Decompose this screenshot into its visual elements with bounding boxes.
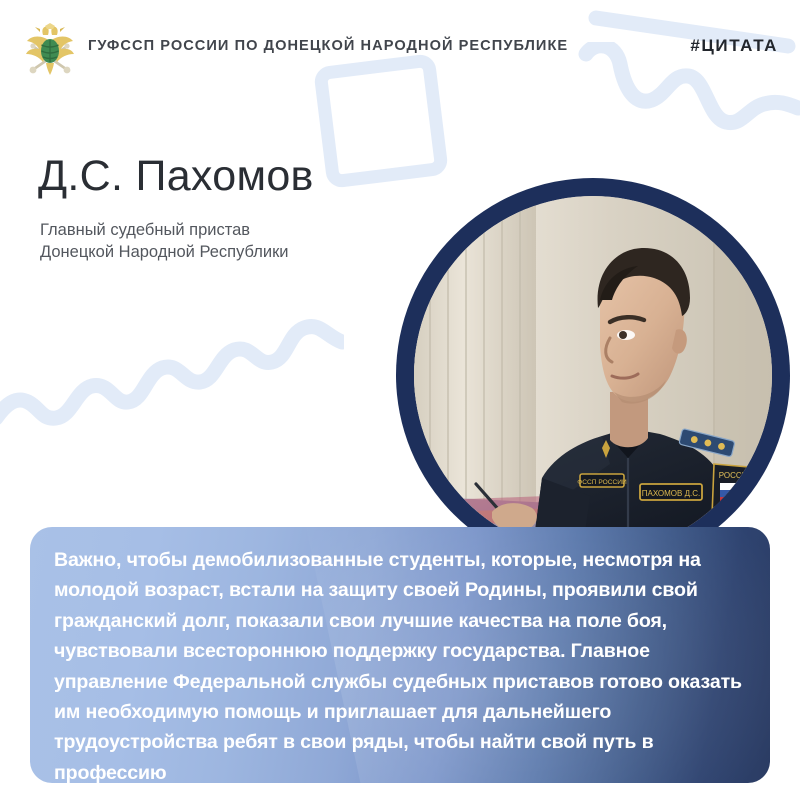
quote-panel: Важно, чтобы демобилизованные студенты, … [30, 527, 770, 783]
person-title: Главный судебный пристав Донецкой Народн… [40, 219, 289, 263]
wave-squiggle-left-icon [0, 300, 344, 430]
portrait-photo-frame: ФССП РОССИИ ПАХОМОВ Д.С. РОССИЯ [414, 196, 772, 554]
svg-text:ФССП РОССИИ: ФССП РОССИИ [577, 479, 627, 486]
person-title-line-2: Донецкой Народной Республики [40, 241, 289, 263]
portrait-photo: ФССП РОССИИ ПАХОМОВ Д.С. РОССИЯ [414, 196, 772, 554]
quote-poster: ГУФССП РОССИИ ПО ДОНЕЦКОЙ НАРОДНОЙ РЕСПУ… [0, 0, 800, 800]
svg-text:ФССП: ФССП [724, 507, 748, 516]
person-title-line-1: Главный судебный пристав [40, 219, 289, 241]
poster-header: ГУФССП РОССИИ ПО ДОНЕЦКОЙ НАРОДНОЙ РЕСПУ… [0, 0, 800, 96]
hashtag-label: #ЦИТАТА [690, 36, 778, 56]
svg-text:ПАХОМОВ Д.С.: ПАХОМОВ Д.С. [642, 489, 700, 498]
svg-text:РОССИЯ: РОССИЯ [719, 471, 754, 480]
fssp-eagle-emblem-icon [22, 23, 78, 79]
quote-text: Важно, чтобы демобилизованные студенты, … [30, 527, 770, 783]
portrait-ring: ФССП РОССИИ ПАХОМОВ Д.С. РОССИЯ [396, 178, 790, 572]
organization-name: ГУФССП РОССИИ ПО ДОНЕЦКОЙ НАРОДНОЙ РЕСПУ… [88, 38, 568, 54]
person-name: Д.С. Пахомов [38, 152, 314, 201]
